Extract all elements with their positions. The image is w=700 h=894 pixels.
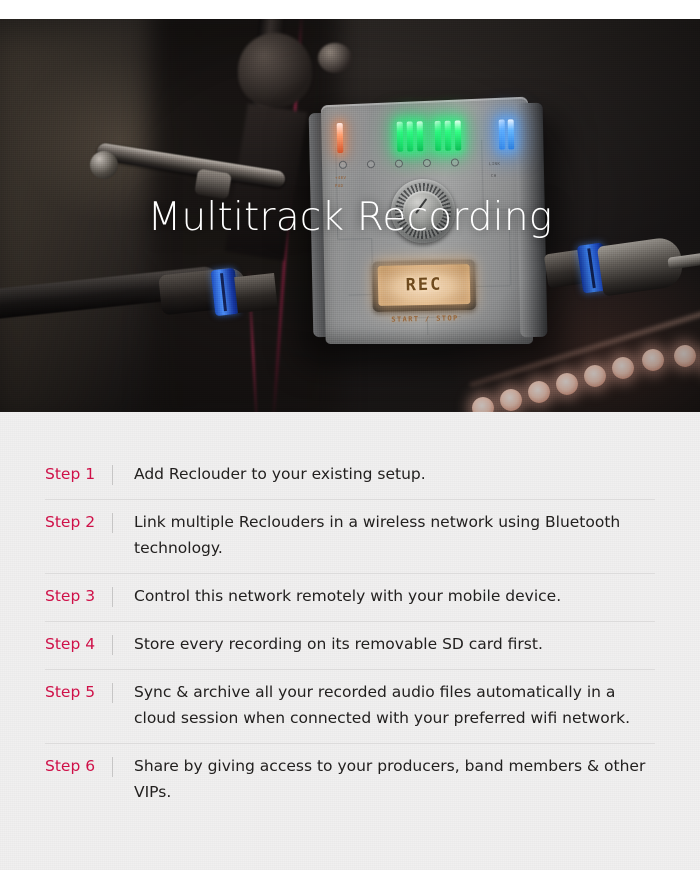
led-meter-green-1	[397, 122, 404, 152]
step-divider	[112, 465, 113, 485]
step-row: Step 1 Add Reclouder to your existing se…	[45, 452, 655, 500]
step-label: Step 1	[45, 461, 107, 487]
hero-title: Multitrack Recording	[0, 195, 700, 240]
string-bulb-6	[612, 357, 634, 379]
led-peak-red	[337, 123, 344, 153]
page-root: +48V PAD LINK CH REC START / STOP	[0, 0, 700, 894]
string-bulb-7	[642, 349, 664, 371]
step-row: Step 3 Control this network remotely wit…	[45, 574, 655, 622]
top-white-gutter	[0, 0, 700, 19]
device-micro-label-ch: CH	[491, 173, 497, 178]
step-text: Share by giving access to your producers…	[134, 753, 655, 805]
device-micro-label-pad: PAD	[335, 183, 344, 188]
string-bulb-3	[528, 381, 550, 403]
indicator-dot-5	[451, 158, 459, 166]
led-meter-green-2	[407, 121, 414, 151]
step-row: Step 4 Store every recording on its remo…	[45, 622, 655, 670]
step-label: Step 2	[45, 509, 107, 535]
step-divider	[112, 683, 113, 703]
led-link-blue	[499, 120, 506, 150]
led-meter-green-6	[455, 120, 462, 150]
string-bulb-4	[556, 373, 578, 395]
indicator-dot-4	[423, 159, 431, 167]
step-label: Step 3	[45, 583, 107, 609]
step-text: Link multiple Reclouders in a wireless n…	[134, 509, 655, 561]
led-meter-green-5	[445, 121, 452, 151]
step-label: Step 4	[45, 631, 107, 657]
step-label: Step 6	[45, 753, 107, 779]
device-micro-label-48v: +48V	[335, 175, 346, 180]
step-text: Add Reclouder to your existing setup.	[134, 461, 655, 487]
step-label: Step 5	[45, 679, 107, 705]
step-row: Step 6 Share by giving access to your pr…	[45, 744, 655, 817]
indicator-dot-1	[339, 161, 347, 169]
steps-section: Step 1 Add Reclouder to your existing se…	[0, 412, 700, 870]
cable-left-connector-tip	[234, 273, 278, 313]
steps-list: Step 1 Add Reclouder to your existing se…	[45, 452, 655, 817]
string-bulb-8	[674, 345, 696, 367]
step-row: Step 2 Link multiple Reclouders in a wir…	[45, 500, 655, 574]
step-divider	[112, 513, 113, 533]
step-text: Control this network remotely with your …	[134, 583, 655, 609]
indicator-dot-3	[395, 160, 403, 168]
step-divider	[112, 635, 113, 655]
device-led-meter-row	[339, 119, 530, 155]
bottom-white-gutter	[0, 870, 700, 894]
rec-button-label: REC	[405, 275, 442, 296]
led-string-lights	[470, 337, 700, 412]
indicator-dot-2	[367, 160, 375, 168]
hero-banner: +48V PAD LINK CH REC START / STOP	[0, 19, 700, 412]
led-meter-green-3	[417, 121, 424, 151]
mic-stand-head	[238, 33, 312, 107]
chrome-clamp-ball	[90, 151, 118, 179]
led-link-blue-2	[508, 119, 515, 149]
led-meter-green-4	[435, 121, 442, 151]
step-text: Sync & archive all your recorded audio f…	[134, 679, 655, 731]
step-text: Store every recording on its removable S…	[134, 631, 655, 657]
string-bulb-1	[472, 397, 494, 412]
step-divider	[112, 587, 113, 607]
device-micro-label-link: LINK	[489, 161, 500, 166]
string-bulb-5	[584, 365, 606, 387]
step-divider	[112, 757, 113, 777]
string-bulb-2	[500, 389, 522, 411]
step-row: Step 5 Sync & archive all your recorded …	[45, 670, 655, 744]
rec-button: REC	[371, 258, 476, 312]
mic-stand-knob	[318, 43, 352, 73]
rec-button-face: REC	[378, 264, 471, 306]
